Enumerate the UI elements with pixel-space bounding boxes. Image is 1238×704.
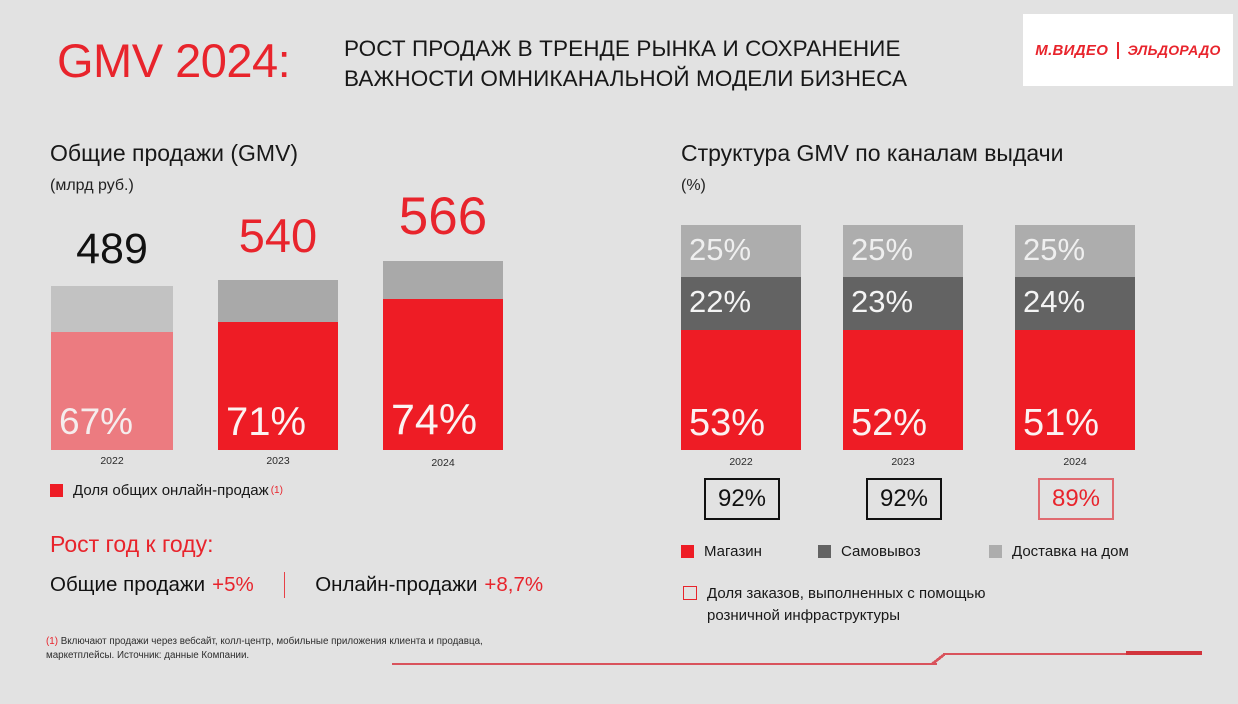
retail-infrastructure-legend-line1: Доля заказов, выполненных с помощью [707,583,986,605]
gmv-total-label-2023: 540 [218,212,338,259]
retail-infrastructure-share-2022: 92% [704,478,780,520]
gmv-online-share-2023: 71% [226,402,306,442]
channels-2022-pickup-value: 22% [689,286,751,317]
channels-2024-home-delivery-segment: 25% [1015,225,1135,277]
channels-2024-store-segment: 51% [1015,330,1135,450]
gmv-year-2022: 2022 [51,455,173,467]
company-logo: М.ВИДЕО ЭЛЬДОРАДО [1023,14,1233,86]
gmv-bar-2024: 74% [383,261,503,450]
gmv-total-label-2022: 489 [51,228,173,271]
channels-2022-home-delivery-segment: 25% [681,225,801,277]
right-legend-label-home-delivery: Доставка на дом [1012,543,1129,560]
left-legend-footnote-mark: (1) [271,485,283,496]
channels-bar-2022: 25% 22% 53% [681,225,801,450]
channels-bar-2023: 25% 23% 52% [843,225,963,450]
retail-infrastructure-legend-line2: розничной инфраструктуры [707,605,986,627]
legend-swatch-red-icon [50,484,63,497]
legend-swatch-outline-icon [683,586,697,600]
right-legend-item-retail-infrastructure: Доля заказов, выполненных с помощью розн… [683,583,986,627]
logo-divider [1117,42,1119,59]
right-legend-item-store: Магазин [681,543,762,560]
gmv-bar-2024-offline-segment [383,261,503,299]
channels-year-2022: 2022 [681,456,801,468]
channels-2022-store-segment: 53% [681,330,801,450]
channels-2023-home-delivery-segment: 25% [843,225,963,277]
gmv-bar-2023-offline-segment [218,280,338,322]
growth-value-total-sales: +5% [212,573,254,597]
right-legend-label-store: Магазин [704,543,762,560]
gmv-year-2023: 2023 [218,455,338,467]
growth-label-online-sales: Онлайн-продажи [315,573,477,597]
right-legend-label-pickup: Самовывоз [841,543,921,560]
channels-2022-store-value: 53% [689,404,765,442]
legend-swatch-red-icon [681,545,694,558]
page-subtitle: РОСТ ПРОДАЖ В ТРЕНДЕ РЫНКА И СОХРАНЕНИЕ … [344,34,1034,94]
gmv-bar-2022: 67% [51,286,173,450]
left-legend-item-online-share: Доля общих онлайн-продаж (1) [50,482,283,499]
channels-bar-2024: 25% 24% 51% [1015,225,1135,450]
logo-mvideo-text: М.ВИДЕО [1035,42,1108,59]
right-legend-item-pickup: Самовывоз [818,543,921,560]
left-panel-unit: (млрд руб.) [50,177,134,195]
retail-infrastructure-share-2023: 92% [866,478,942,520]
gmv-bar-2024-online-segment: 74% [383,299,503,450]
channels-2023-pickup-segment: 23% [843,277,963,330]
bottom-rule-mid-segment [943,653,1143,655]
channels-2023-home-delivery-value: 25% [851,234,913,265]
channels-2024-home-delivery-value: 25% [1023,234,1085,265]
bottom-rule-left-segment [392,663,937,665]
channels-2024-store-value: 51% [1023,404,1099,442]
right-panel-title: Структура GMV по каналам выдачи [681,140,1063,167]
logo-eldorado-text: ЭЛЬДОРАДО [1128,42,1221,58]
footnote-mark: (1) [46,636,58,647]
left-legend-label: Доля общих онлайн-продаж [73,482,269,499]
growth-value-online-sales: +8,7% [484,573,543,597]
growth-heading: Рост год к году: [50,531,213,558]
gmv-bar-2023: 71% [218,280,338,450]
left-panel-title: Общие продажи (GMV) [50,140,298,167]
gmv-total-label-2024: 566 [383,190,503,243]
page-title: GMV 2024: [57,33,290,89]
channels-2024-pickup-value: 24% [1023,286,1085,317]
channels-2022-home-delivery-value: 25% [689,234,751,265]
right-legend-item-home-delivery: Доставка на дом [989,543,1129,560]
footnote-text: Включают продажи через вебсайт, колл-цен… [46,636,483,661]
retail-infrastructure-share-2024: 89% [1038,478,1114,520]
right-panel-unit: (%) [681,177,706,195]
growth-label-total-sales: Общие продажи [50,573,205,597]
channels-2023-store-segment: 52% [843,330,963,450]
gmv-online-share-2022: 67% [59,403,133,440]
gmv-bar-2022-online-segment: 67% [51,332,173,450]
growth-divider [284,572,286,598]
gmv-bar-2022-offline-segment [51,286,173,332]
channels-year-2024: 2024 [1015,456,1135,468]
channels-2023-store-value: 52% [851,404,927,442]
channels-2023-pickup-value: 23% [851,286,913,317]
footnote: (1) Включают продажи через вебсайт, колл… [46,635,516,663]
legend-swatch-light-grey-icon [989,545,1002,558]
infographic-canvas: GMV 2024: РОСТ ПРОДАЖ В ТРЕНДЕ РЫНКА И С… [0,0,1238,704]
growth-row: Общие продажи +5% Онлайн-продажи +8,7% [50,572,543,598]
gmv-year-2024: 2024 [383,457,503,469]
legend-swatch-dark-grey-icon [818,545,831,558]
channels-year-2023: 2023 [843,456,963,468]
channels-2024-pickup-segment: 24% [1015,277,1135,330]
bottom-rule-right-accent [1126,651,1202,655]
channels-2022-pickup-segment: 22% [681,277,801,330]
gmv-bar-2023-online-segment: 71% [218,322,338,450]
gmv-online-share-2024: 74% [391,399,477,442]
